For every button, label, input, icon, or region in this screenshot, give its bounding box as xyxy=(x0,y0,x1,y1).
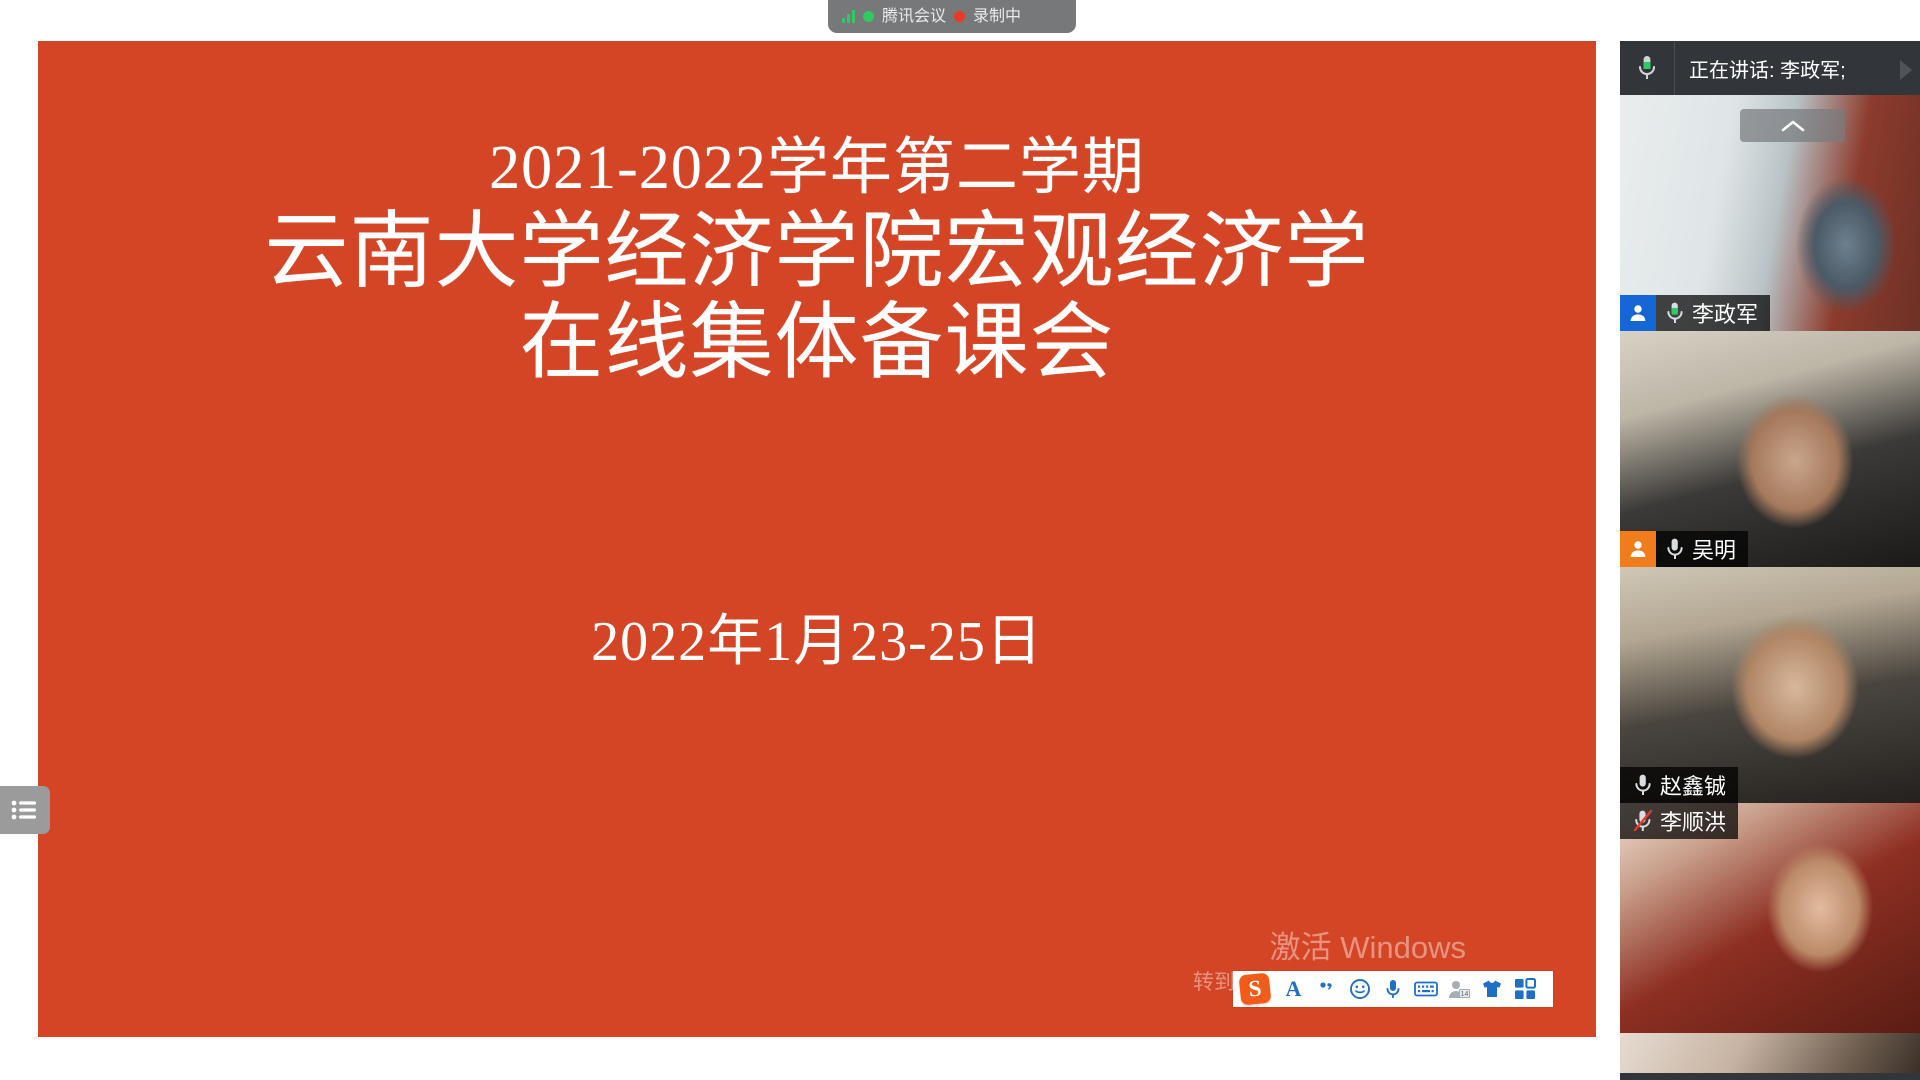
list-menu-icon xyxy=(11,800,39,820)
participant-tile[interactable] xyxy=(1620,1033,1920,1073)
input-mode-letter-a-icon[interactable]: A xyxy=(1277,971,1310,1007)
participant-nametag: 吴明 xyxy=(1620,531,1748,567)
green-dot-icon xyxy=(863,11,874,22)
slide-title: 2021-2022学年第二学期 云南大学经济学院宏观经济学 在线集体备课会 xyxy=(38,136,1596,388)
slide-title-line2: 云南大学经济学院宏观经济学 xyxy=(38,208,1596,297)
mic-on-green-icon xyxy=(1660,295,1690,331)
soft-keyboard-icon[interactable] xyxy=(1409,971,1442,1007)
slide-date: 2022年1月23-25日 xyxy=(38,596,1596,677)
participant-tile[interactable]: 李政军 xyxy=(1620,95,1920,331)
participant-name: 李顺洪 xyxy=(1660,805,1726,837)
voice-input-mic-icon[interactable] xyxy=(1376,971,1409,1007)
mic-active-icon xyxy=(1620,41,1675,95)
mic-on-icon xyxy=(1660,531,1690,567)
scroll-up-button[interactable] xyxy=(1740,109,1845,142)
participant-tile[interactable]: 赵鑫铖 xyxy=(1620,567,1920,803)
slide-list-toggle-button[interactable] xyxy=(0,786,50,834)
shared-screen-slide: 2021-2022学年第二学期 云南大学经济学院宏观经济学 在线集体备课会 20… xyxy=(38,41,1596,1037)
mic-on-icon xyxy=(1628,767,1658,803)
meeting-app-name: 腾讯会议 xyxy=(882,9,946,25)
chevron-right-icon[interactable] xyxy=(1882,53,1920,87)
red-record-dot-icon xyxy=(954,11,965,22)
participant-nametag: 李顺洪 xyxy=(1620,803,1738,839)
signal-bars-icon xyxy=(842,10,855,23)
user-account-icon[interactable]: 14 xyxy=(1442,971,1475,1007)
recording-status-label: 录制中 xyxy=(973,9,1021,25)
recording-status-bar: 腾讯会议 录制中 xyxy=(828,0,1076,33)
sogou-logo-letter: S xyxy=(1239,973,1272,1006)
chevron-up-icon xyxy=(1780,118,1806,134)
participant-video-feed xyxy=(1620,1033,1920,1073)
watermark-line1: 激活 Windows xyxy=(1046,929,1466,967)
active-speaker-bar: 正在讲话: 李政军; xyxy=(1620,41,1920,95)
participant-nametag: 李政军 xyxy=(1620,295,1770,331)
punctuation-icon[interactable] xyxy=(1310,971,1343,1007)
participant-tile[interactable]: 吴明 xyxy=(1620,331,1920,567)
participant-name: 赵鑫铖 xyxy=(1660,769,1726,801)
participant-video-panel: 正在讲话: 李政军; 李政军 吴明 xyxy=(1620,41,1920,1080)
person-icon xyxy=(1620,295,1656,331)
toolbox-grid-icon[interactable] xyxy=(1508,971,1541,1007)
mic-muted-icon xyxy=(1628,803,1658,839)
participant-nametag: 赵鑫铖 xyxy=(1620,767,1738,803)
skin-shirt-icon[interactable] xyxy=(1475,971,1508,1007)
sogou-ime-toolbar[interactable]: S A 14 xyxy=(1233,971,1553,1007)
svg-text:14: 14 xyxy=(1460,991,1468,998)
person-icon xyxy=(1620,531,1656,567)
slide-title-line3: 在线集体备课会 xyxy=(38,299,1596,388)
sogou-logo-icon[interactable]: S xyxy=(1233,971,1277,1007)
participant-name: 吴明 xyxy=(1692,533,1736,565)
participant-name: 李政军 xyxy=(1692,297,1758,329)
participant-tile[interactable]: 李顺洪 xyxy=(1620,803,1920,1033)
emoji-icon[interactable] xyxy=(1343,971,1376,1007)
slide-title-line1: 2021-2022学年第二学期 xyxy=(38,136,1596,202)
